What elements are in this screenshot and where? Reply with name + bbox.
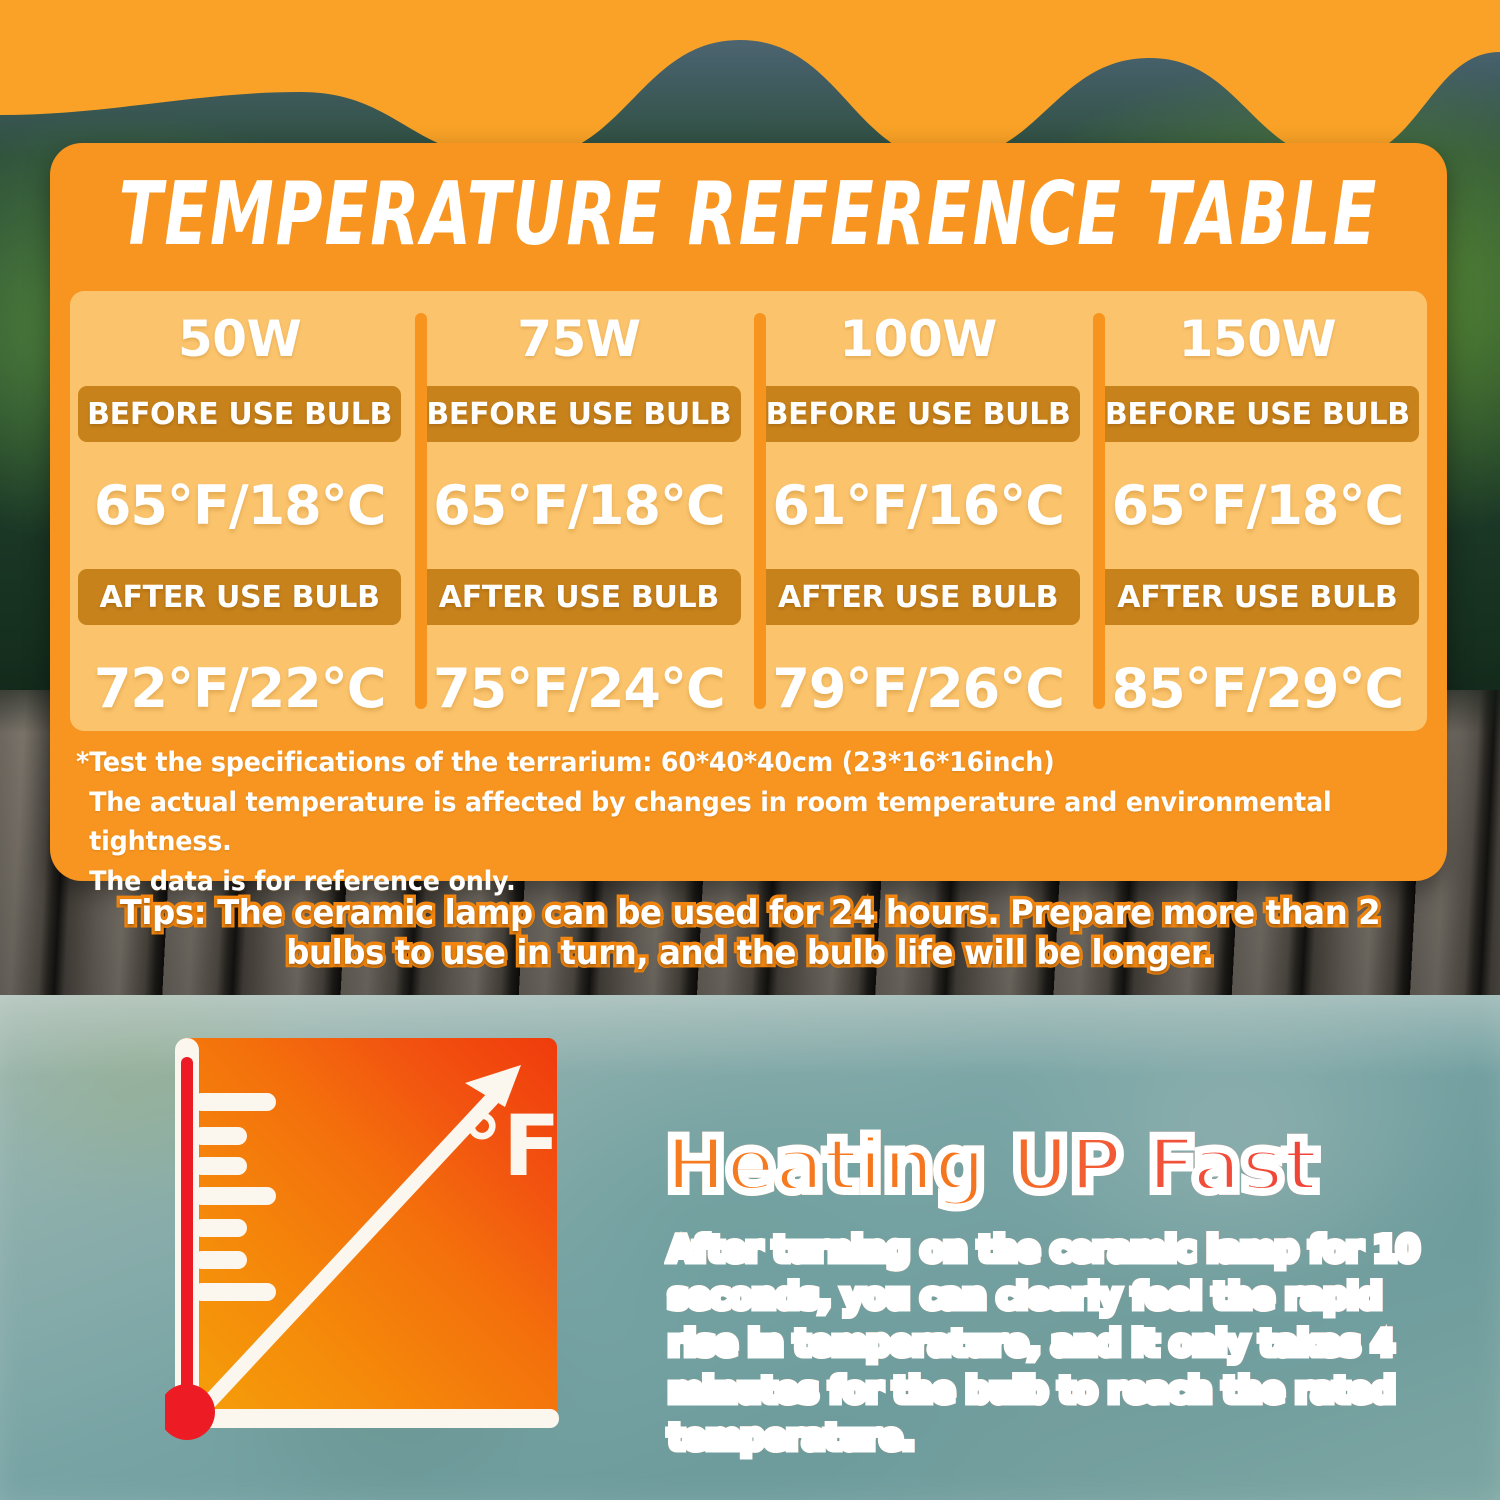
thermometer-mercury bbox=[181, 1057, 193, 1427]
before-use-label: BEFORE USE BULB bbox=[1105, 397, 1410, 432]
after-use-label: AFTER USE BULB bbox=[1117, 580, 1397, 615]
table-column-100w: 100W BEFORE USE BULB 61°F/16°C AFTER USE… bbox=[749, 291, 1088, 731]
before-use-band: BEFORE USE BULB bbox=[1096, 386, 1419, 442]
after-use-value-cell: 79°F/26°C bbox=[749, 625, 1088, 731]
footnote: *Test the specifications of the terrariu… bbox=[76, 743, 1336, 902]
footnote-line-2: The actual temperature is affected by ch… bbox=[76, 783, 1336, 862]
heating-heading: Heating UP Fast bbox=[665, 1120, 1318, 1209]
before-use-value: 61°F/16°C bbox=[772, 474, 1064, 537]
unit-label: °F bbox=[461, 1097, 560, 1195]
column-divider bbox=[1093, 313, 1105, 709]
page-title: TEMPERATURE REFERENCE TABLE bbox=[71, 169, 1426, 260]
before-use-value-cell: 61°F/16°C bbox=[749, 442, 1088, 569]
after-use-value-cell: 72°F/22°C bbox=[70, 625, 409, 731]
after-use-value: 85°F/29°C bbox=[1112, 657, 1404, 720]
column-divider bbox=[754, 313, 766, 709]
before-use-value-cell: 65°F/18°C bbox=[1088, 442, 1427, 569]
table-column-75w: 75W BEFORE USE BULB 65°F/18°C AFTER USE … bbox=[409, 291, 748, 731]
table-column-150w: 150W BEFORE USE BULB 65°F/18°C AFTER USE… bbox=[1088, 291, 1427, 731]
before-use-band: BEFORE USE BULB bbox=[417, 386, 740, 442]
after-use-band: AFTER USE BULB bbox=[1096, 569, 1419, 625]
after-use-value-cell: 75°F/24°C bbox=[409, 625, 748, 731]
after-use-label: AFTER USE BULB bbox=[778, 580, 1058, 615]
after-use-band: AFTER USE BULB bbox=[78, 569, 401, 625]
table-column-50w: 50W BEFORE USE BULB 65°F/18°C AFTER USE … bbox=[70, 291, 409, 731]
after-use-value-cell: 85°F/29°C bbox=[1088, 625, 1427, 731]
column-divider bbox=[415, 313, 427, 709]
after-use-value: 79°F/26°C bbox=[772, 657, 1064, 720]
before-use-label: BEFORE USE BULB bbox=[426, 397, 731, 432]
temperature-table: 50W BEFORE USE BULB 65°F/18°C AFTER USE … bbox=[70, 291, 1427, 731]
after-use-value: 72°F/22°C bbox=[94, 657, 386, 720]
heating-up-fast-section: °F Heating UP Fast After turning on the … bbox=[0, 995, 1500, 1500]
wattage-label: 150W bbox=[1179, 310, 1337, 368]
before-use-value: 65°F/18°C bbox=[94, 474, 386, 537]
heating-body-text: After turning on the ceramic lamp for 10… bbox=[668, 1227, 1426, 1461]
tips-text: Tips: The ceramic lamp can be used for 2… bbox=[85, 893, 1415, 973]
before-use-band: BEFORE USE BULB bbox=[757, 386, 1080, 442]
footnote-line-1: *Test the specifications of the terrariu… bbox=[76, 743, 1336, 783]
wattage-label: 50W bbox=[178, 310, 301, 368]
after-use-band: AFTER USE BULB bbox=[417, 569, 740, 625]
before-use-value-cell: 65°F/18°C bbox=[70, 442, 409, 569]
after-use-value: 75°F/24°C bbox=[433, 657, 725, 720]
column-header: 100W bbox=[749, 291, 1088, 386]
thermometer-rising-chart-icon: °F bbox=[165, 1035, 569, 1440]
column-header: 75W bbox=[409, 291, 748, 386]
after-use-label: AFTER USE BULB bbox=[439, 580, 719, 615]
before-use-label: BEFORE USE BULB bbox=[766, 397, 1071, 432]
after-use-band: AFTER USE BULB bbox=[757, 569, 1080, 625]
column-header: 50W bbox=[70, 291, 409, 386]
column-header: 150W bbox=[1088, 291, 1427, 386]
before-use-label: BEFORE USE BULB bbox=[87, 397, 392, 432]
before-use-value: 65°F/18°C bbox=[1112, 474, 1404, 537]
before-use-value-cell: 65°F/18°C bbox=[409, 442, 748, 569]
before-use-band: BEFORE USE BULB bbox=[78, 386, 401, 442]
before-use-value: 65°F/18°C bbox=[433, 474, 725, 537]
chart-baseline-axis bbox=[187, 1409, 559, 1428]
wattage-label: 75W bbox=[517, 310, 640, 368]
wattage-label: 100W bbox=[839, 310, 997, 368]
after-use-label: AFTER USE BULB bbox=[100, 580, 380, 615]
temperature-reference-card: TEMPERATURE REFERENCE TABLE 50W BEFORE U… bbox=[50, 143, 1447, 881]
temperature-reference-section: TEMPERATURE REFERENCE TABLE 50W BEFORE U… bbox=[0, 0, 1500, 995]
